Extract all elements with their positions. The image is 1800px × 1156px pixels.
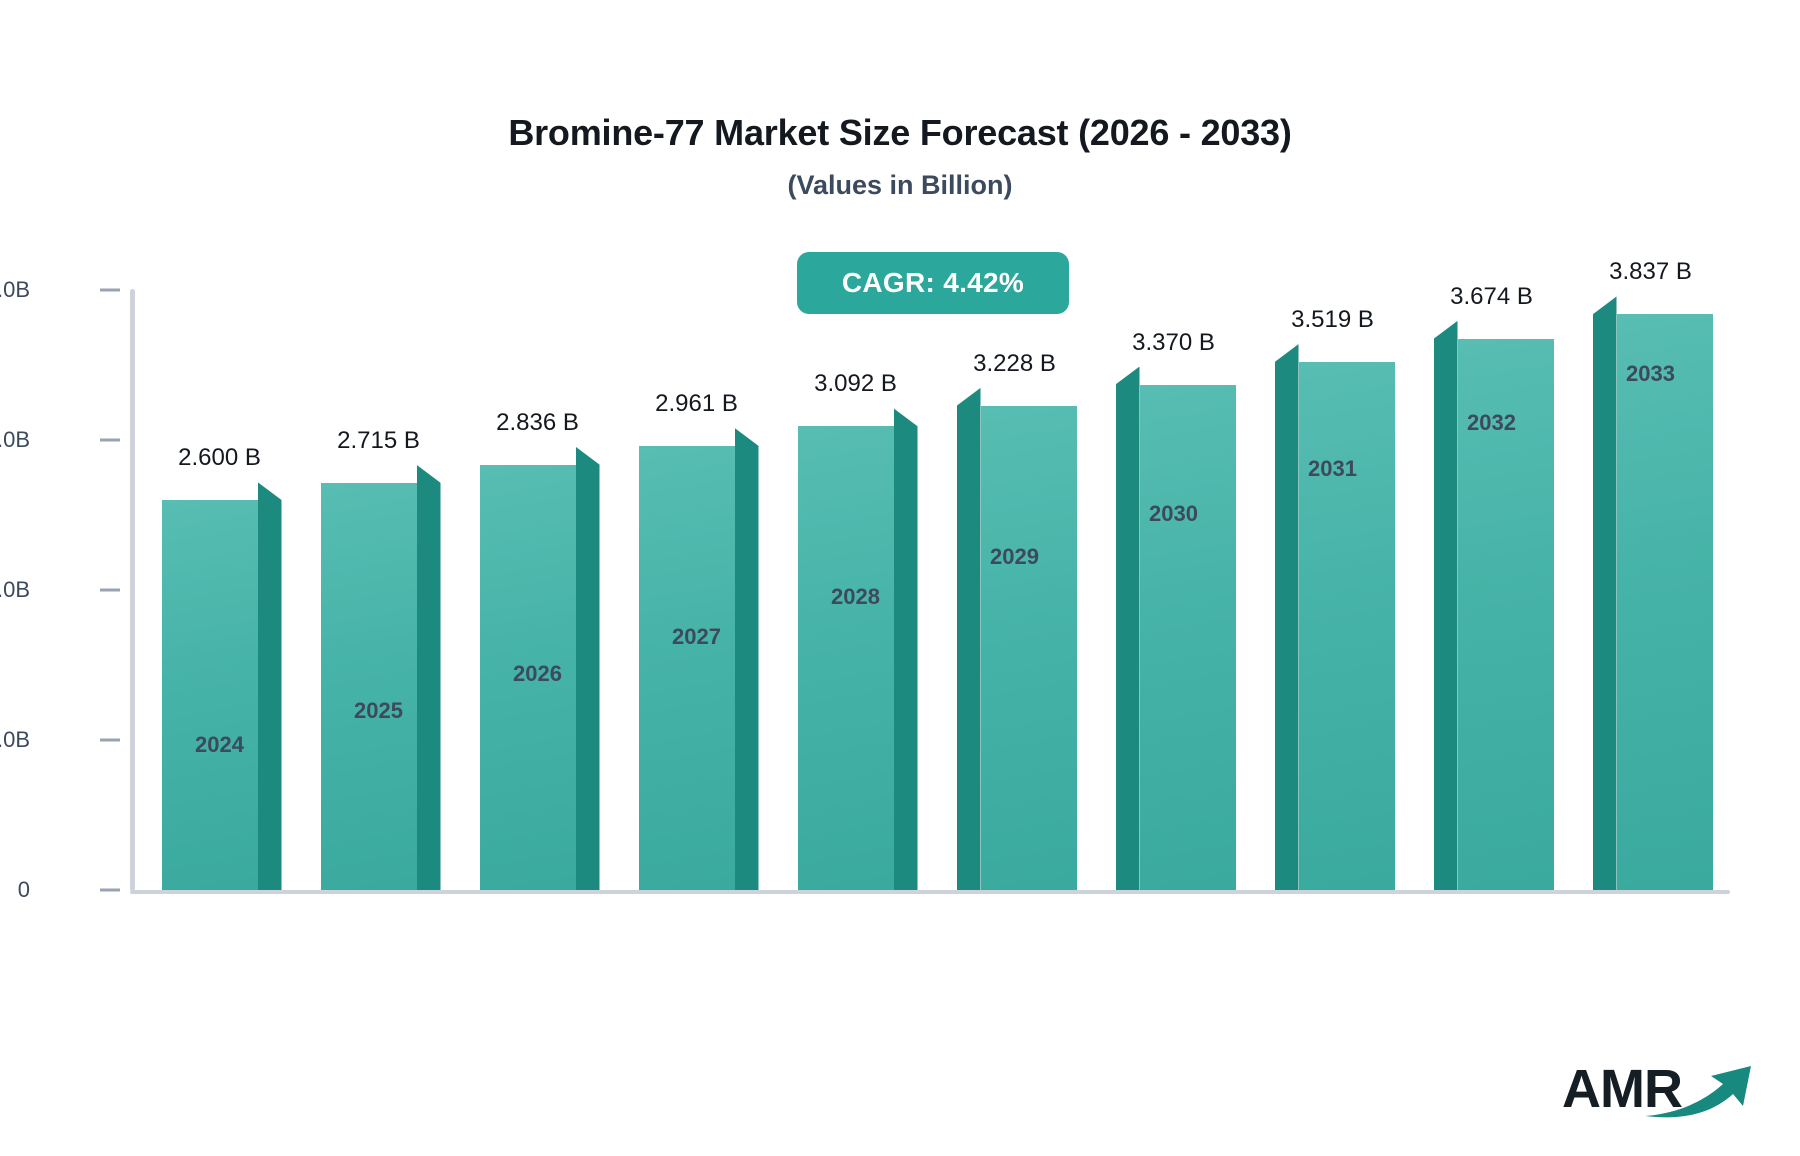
x-axis-label-2025: 2025 xyxy=(279,698,479,724)
x-axis-label-2030: 2030 xyxy=(1074,501,1274,527)
bar-front-face xyxy=(639,446,735,890)
bar-front-face xyxy=(1140,385,1236,891)
page-title: Bromine-77 Market Size Forecast (2026 - … xyxy=(0,112,1800,154)
plot-area: 01.0B2.0B3.0B4.0B 2.600 B20242.715 B2025… xyxy=(130,290,1720,890)
x-axis-line xyxy=(130,890,1730,894)
bar-front-face xyxy=(162,500,258,890)
growth-arrow-icon xyxy=(1643,1062,1758,1120)
bar-body xyxy=(162,500,282,890)
x-axis-label-2031: 2031 xyxy=(1233,456,1433,482)
bar-2031[interactable]: 3.519 B2031 xyxy=(1275,362,1395,890)
bar-body xyxy=(1116,385,1236,891)
chart-subtitle: (Values in Billion) xyxy=(0,170,1800,201)
bar-2028[interactable]: 3.092 B2028 xyxy=(798,426,918,890)
bar-body xyxy=(1593,314,1713,890)
x-axis-label-2027: 2027 xyxy=(597,624,797,650)
bar-body xyxy=(639,446,759,890)
bar-value-label: 3.837 B xyxy=(1551,258,1751,286)
bar-front-face xyxy=(321,483,417,890)
bar-side-face xyxy=(894,408,918,890)
bar-2025[interactable]: 2.715 B2025 xyxy=(321,483,441,890)
y-axis-tick-mark xyxy=(100,439,120,442)
y-axis-tick-mark xyxy=(100,739,120,742)
bar-front-face xyxy=(798,426,894,890)
y-axis-tick-label: 0 xyxy=(0,877,30,903)
bar-2027[interactable]: 2.961 B2027 xyxy=(639,446,759,890)
x-axis-label-2029: 2029 xyxy=(915,544,1115,570)
bar-side-face xyxy=(1275,344,1299,890)
y-axis-tick-label: 3.0B xyxy=(0,427,30,453)
x-axis-label-2026: 2026 xyxy=(438,661,638,687)
bar-side-face xyxy=(1116,367,1140,891)
bar-2032[interactable]: 3.674 B2032 xyxy=(1434,339,1554,890)
bar-body xyxy=(1275,362,1395,890)
y-axis-tick-label: 4.0B xyxy=(0,277,30,303)
bar-side-face xyxy=(735,428,759,890)
bar-2029[interactable]: 3.228 B2029 xyxy=(957,406,1077,890)
bar-2026[interactable]: 2.836 B2026 xyxy=(480,465,600,890)
bar-body xyxy=(957,406,1077,890)
y-axis-tick-mark xyxy=(100,289,120,292)
y-axis-tick-mark xyxy=(100,889,120,892)
y-axis-tick-label: 1.0B xyxy=(0,727,30,753)
bar-body xyxy=(798,426,918,890)
bar-front-face xyxy=(1299,362,1395,890)
x-axis-label-2032: 2032 xyxy=(1392,410,1592,436)
bar-value-label: 3.674 B xyxy=(1392,283,1592,311)
bar-2024[interactable]: 2.600 B2024 xyxy=(162,500,282,890)
bar-side-face xyxy=(258,482,282,890)
bar-2030[interactable]: 3.370 B2030 xyxy=(1116,385,1236,891)
amr-logo: AMR xyxy=(1562,1048,1752,1126)
y-axis-tick-label: 2.0B xyxy=(0,577,30,603)
chart-canvas: Bromine-77 Market Size Forecast (2026 - … xyxy=(0,0,1800,1156)
bar-body xyxy=(321,483,441,890)
x-axis-label-2024: 2024 xyxy=(120,732,320,758)
x-axis-label-2028: 2028 xyxy=(756,584,956,610)
bar-side-face xyxy=(957,388,981,890)
bar-side-face xyxy=(1434,321,1458,890)
x-axis-label-2033: 2033 xyxy=(1551,361,1751,387)
bar-series: 2.600 B20242.715 B20252.836 B20262.961 B… xyxy=(130,290,1720,890)
bar-2033[interactable]: 3.837 B2033 xyxy=(1593,314,1713,890)
bar-front-face xyxy=(1617,314,1713,890)
bar-front-face xyxy=(981,406,1077,890)
y-axis-tick-mark xyxy=(100,589,120,592)
